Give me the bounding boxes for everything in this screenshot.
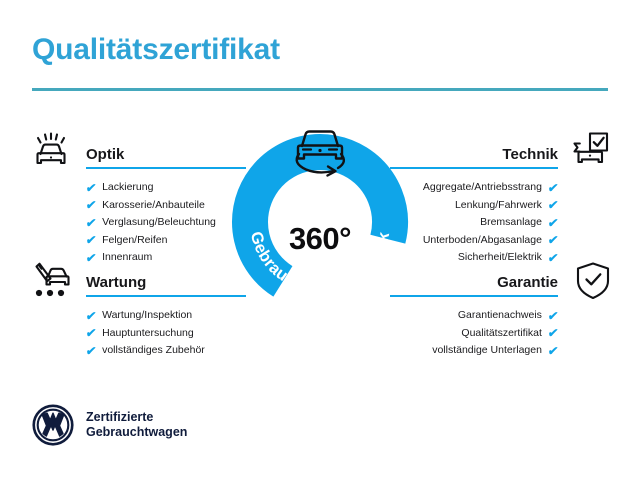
check-icon: ✔ — [547, 234, 559, 246]
title-divider — [32, 88, 608, 91]
check-icon: ✔ — [85, 182, 97, 194]
list-item: Aggregate/Antriebsstrang✔ — [390, 179, 558, 197]
list-item: ✔Karosserie/Anbauteile — [86, 197, 246, 215]
list-item-label: vollständige Unterlagen — [432, 342, 542, 360]
list-item: ✔vollständiges Zubehör — [86, 342, 246, 360]
section-divider — [390, 167, 558, 169]
volkswagen-logo — [32, 404, 74, 446]
list-item-label: Karosserie/Anbauteile — [102, 197, 205, 215]
list-item: ✔Lackierung — [86, 179, 246, 197]
section-header: Garantie — [390, 268, 558, 294]
check-icon: ✔ — [547, 327, 559, 339]
section-divider — [86, 295, 246, 297]
section-title: Garantie — [497, 274, 558, 291]
section-header: Wartung — [86, 268, 246, 294]
check-icon: ✔ — [85, 217, 97, 229]
car-rotate-360-icon — [284, 120, 356, 182]
list-item: Garantienachweis✔ — [390, 307, 558, 325]
check-icon: ✔ — [85, 252, 97, 264]
check-icon: ✔ — [547, 199, 559, 211]
section-header: Optik — [86, 140, 246, 166]
section-title: Wartung — [86, 274, 146, 291]
section-title: Optik — [86, 146, 124, 163]
list-item-label: Felgen/Reifen — [102, 232, 167, 250]
qualitaetszertifikat-page: Qualitätszertifikat Optik ✔Lackierung ✔K… — [0, 0, 640, 480]
section-optik: Optik ✔Lackierung ✔Karosserie/Anbauteile… — [86, 140, 246, 267]
check-icon: ✔ — [85, 234, 97, 246]
section-divider — [390, 295, 558, 297]
list-item-label: Sicherheit/Elektrik — [458, 249, 542, 267]
list-item: vollständige Unterlagen✔ — [390, 342, 558, 360]
shield-check-icon — [570, 258, 616, 304]
section-list: ✔Lackierung ✔Karosserie/Anbauteile ✔Verg… — [86, 179, 246, 267]
list-item-label: Lackierung — [102, 179, 153, 197]
list-item: ✔Hauptuntersuchung — [86, 325, 246, 343]
footer-line-1: Zertifizierte — [86, 410, 187, 426]
check-icon: ✔ — [85, 199, 97, 211]
list-item-label: Wartung/Inspektion — [102, 307, 192, 325]
list-item-label: Lenkung/Fahrwerk — [455, 197, 542, 215]
check-icon: ✔ — [85, 310, 97, 322]
list-item-label: Innenraum — [102, 249, 152, 267]
list-item-label: Qualitätszertifikat — [461, 325, 542, 343]
list-item: ✔Verglasung/Beleuchtung — [86, 214, 246, 232]
list-item-label: Hauptuntersuchung — [102, 325, 194, 343]
check-icon: ✔ — [547, 217, 559, 229]
section-title: Technik — [502, 146, 558, 163]
car-wash-icon — [28, 128, 74, 174]
check-icon: ✔ — [547, 310, 559, 322]
list-item-label: vollständiges Zubehör — [102, 342, 205, 360]
list-item: Qualitätszertifikat✔ — [390, 325, 558, 343]
footer-line-2: Gebrauchtwagen — [86, 425, 187, 441]
check-icon: ✔ — [547, 252, 559, 264]
list-item-label: Garantienachweis — [458, 307, 542, 325]
check-icon: ✔ — [85, 327, 97, 339]
list-item: ✔Wartung/Inspektion — [86, 307, 246, 325]
car-checkbox-icon — [566, 128, 612, 174]
section-list: ✔Wartung/Inspektion ✔Hauptuntersuchung ✔… — [86, 307, 246, 360]
list-item-label: Verglasung/Beleuchtung — [102, 214, 216, 232]
volkswagen-footer: Zertifizierte Gebrauchtwagen — [32, 404, 187, 446]
list-item: ✔Felgen/Reifen — [86, 232, 246, 250]
list-item-label: Aggregate/Antriebsstrang — [423, 179, 542, 197]
section-list: Aggregate/Antriebsstrang✔ Lenkung/Fahrwe… — [390, 179, 558, 267]
section-header: Technik — [390, 140, 558, 166]
list-item: Unterboden/Abgasanlage✔ — [390, 232, 558, 250]
badge-center-label: 360° — [228, 221, 412, 257]
gebrauchtwagen-check-badge: Gebrauchtwagen-Check 360° — [228, 124, 412, 308]
page-title: Qualitätszertifikat — [32, 33, 280, 67]
list-item: Bremsanlage✔ — [390, 214, 558, 232]
list-item-label: Bremsanlage — [480, 214, 542, 232]
list-item: Lenkung/Fahrwerk✔ — [390, 197, 558, 215]
section-garantie: Garantie Garantienachweis✔ Qualitätszert… — [390, 268, 558, 360]
list-item-label: Unterboden/Abgasanlage — [423, 232, 542, 250]
section-list: Garantienachweis✔ Qualitätszertifikat✔ v… — [390, 307, 558, 360]
section-divider — [86, 167, 246, 169]
car-service-tool-icon — [28, 257, 74, 303]
check-icon: ✔ — [547, 345, 559, 357]
list-item: Sicherheit/Elektrik✔ — [390, 249, 558, 267]
section-wartung: Wartung ✔Wartung/Inspektion ✔Hauptunters… — [86, 268, 246, 360]
check-icon: ✔ — [547, 182, 559, 194]
footer-text: Zertifizierte Gebrauchtwagen — [86, 410, 187, 441]
list-item: ✔Innenraum — [86, 249, 246, 267]
section-technik: Technik Aggregate/Antriebsstrang✔ Lenkun… — [390, 140, 558, 267]
check-icon: ✔ — [85, 345, 97, 357]
